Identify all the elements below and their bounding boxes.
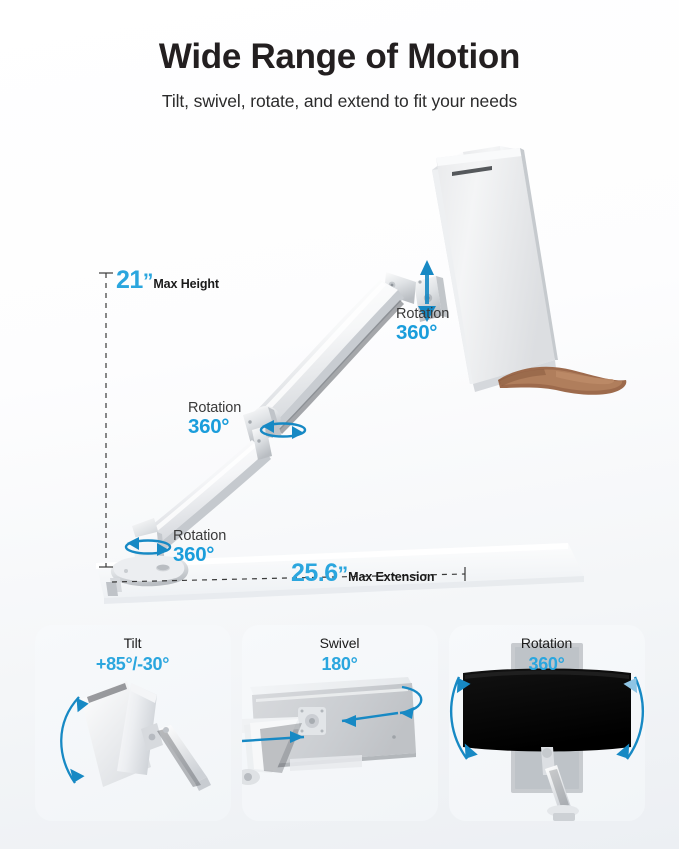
feature-panels: Tilt +85°/-30° (0, 625, 679, 849)
max-height-unit: ” (143, 270, 154, 293)
panel-rotation-title: Rotation (449, 636, 645, 652)
panel-rotation: Rotation 360° (449, 625, 645, 821)
rotation-callout-base-post: Rotation 360° (173, 529, 226, 566)
rotation-label: Rotation (173, 529, 226, 544)
page-title: Wide Range of Motion (0, 38, 679, 77)
header: Wide Range of Motion Tilt, swivel, rotat… (0, 0, 679, 112)
rotation-callout-elbow-joint: Rotation 360° (188, 401, 241, 438)
panel-tilt-header: Tilt +85°/-30° (35, 636, 231, 674)
panel-tilt-value: +85°/-30° (35, 654, 231, 674)
max-extension-value: 25.6 (291, 559, 338, 587)
rotation-label: Rotation (188, 401, 241, 416)
max-extension-unit: ” (338, 563, 349, 586)
panel-swivel: Swivel 180° (242, 625, 438, 821)
rotation-callout-vesa-head: Rotation 360° (396, 307, 449, 344)
monitor-arm-illustration (0, 130, 679, 610)
rotation-value: 360° (188, 417, 241, 438)
rotation-value: 360° (173, 545, 226, 566)
rotation-label: Rotation (396, 307, 449, 322)
panel-rotation-value: 360° (449, 654, 645, 674)
panel-swivel-header: Swivel 180° (242, 636, 438, 674)
panel-swivel-title: Swivel (242, 636, 438, 652)
page-subtitle: Tilt, swivel, rotate, and extend to fit … (0, 91, 679, 112)
panel-swivel-value: 180° (242, 654, 438, 674)
panel-tilt-title: Tilt (35, 636, 231, 652)
monitor-rear (432, 146, 558, 392)
height-dimension-line (99, 273, 113, 567)
max-height-text: Max Height (153, 277, 219, 291)
rotation-value: 360° (396, 323, 449, 344)
panel-rotation-header: Rotation 360° (449, 636, 645, 674)
max-height-value: 21 (116, 266, 143, 294)
max-height-label: 21”Max Height (116, 268, 219, 293)
max-extension-text: Max Extension (348, 570, 434, 584)
infographic-page: Wide Range of Motion Tilt, swivel, rotat… (0, 0, 679, 849)
max-extension-label: 25.6”Max Extension (291, 561, 434, 586)
panel-tilt: Tilt +85°/-30° (35, 625, 231, 821)
